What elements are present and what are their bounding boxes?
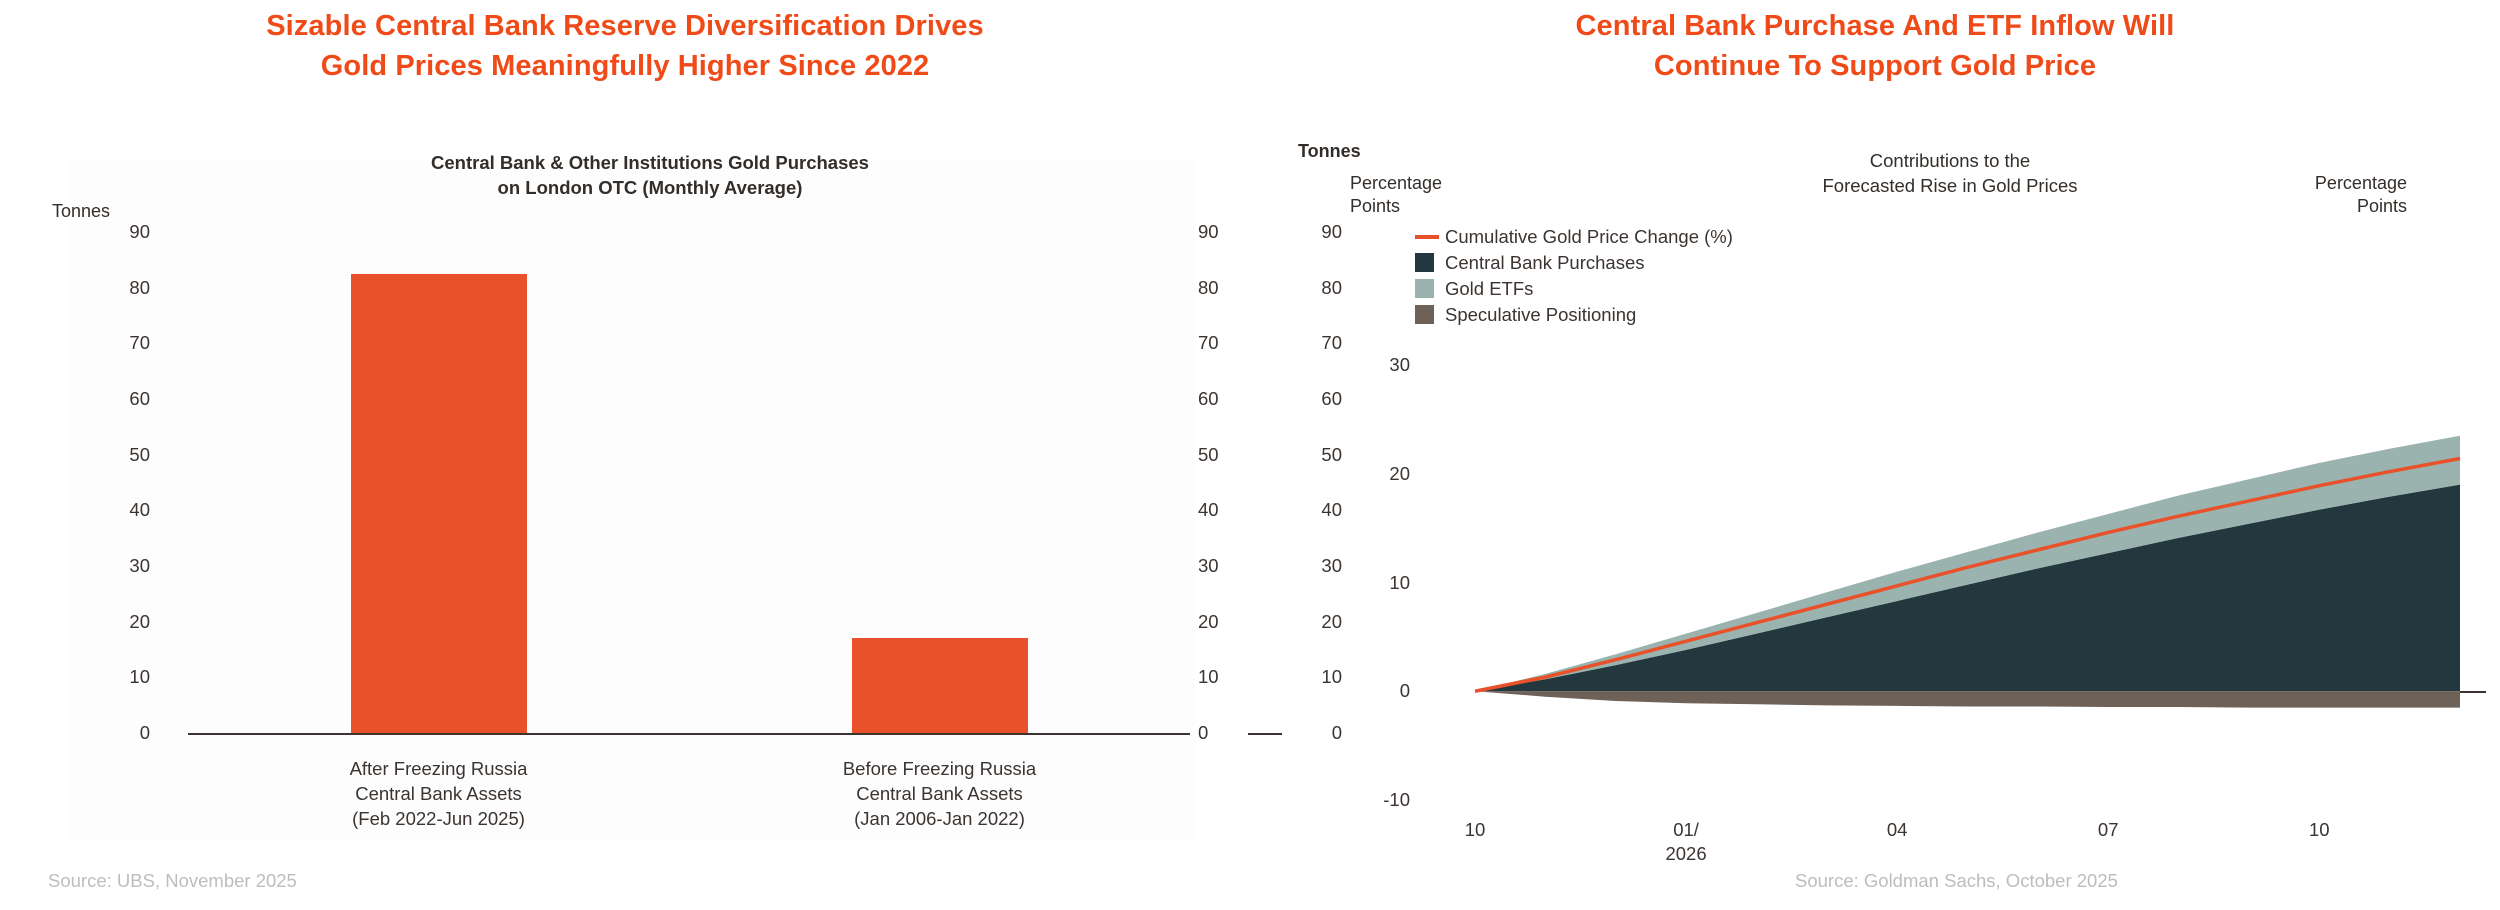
right-x-tick-0: 10 [1405,818,1545,842]
right-plot-area: -10-100010102020303001020304050607080901… [1270,160,2500,840]
left-source-note: Source: UBS, November 2025 [48,870,297,892]
left-y-tick-right-80: 80 [1198,277,1219,299]
right-x-tick-3: 07 [2038,818,2178,842]
left-axis-baseline [188,733,1190,735]
left-chart-card: Central Bank & Other Institutions Gold P… [70,160,1195,840]
dual-chart-board: Sizable Central Bank Reserve Diversifica… [0,0,2500,910]
left-y-tick-right-20: 20 [1198,611,1219,633]
right-zero-tick [2460,691,2486,693]
left-y-tick-right-90: 90 [1198,221,1219,243]
left-y-tick-60: 60 [70,388,150,410]
left-category-label-0: After Freezing Russia Central Bank Asset… [249,756,629,831]
area-speculative-positioning [1475,691,2460,707]
left-y-tick-right-0: 0 [1198,722,1208,744]
left-panel-title: Sizable Central Bank Reserve Diversifica… [0,6,1250,86]
right-x-tick-4: 10 [2249,818,2389,842]
left-bar-0[interactable] [351,274,527,733]
left-y-tick-20: 20 [70,611,150,633]
left-y-tick-right-40: 40 [1198,499,1219,521]
left-y-tick-10: 10 [70,666,150,688]
left-y-tick-70: 70 [70,332,150,354]
left-plot-area: 01020304050607080900102030405060708090Af… [70,160,1195,840]
right-title-line1: Central Bank Purchase And ETF Inflow Wil… [1250,6,2500,46]
left-y-tick-80: 80 [70,277,150,299]
left-y-tick-right-70: 70 [1198,332,1219,354]
left-category-label-1: Before Freezing Russia Central Bank Asse… [750,756,1130,831]
right-x-tick-2: 04 [1827,818,1967,842]
right-chart-panel: Central Bank Purchase And ETF Inflow Wil… [1250,0,2500,910]
left-y-tick-right-50: 50 [1198,444,1219,466]
left-y-tick-right-30: 30 [1198,555,1219,577]
right-source-note: Source: Goldman Sachs, October 2025 [1795,870,2118,892]
left-y-tick-30: 30 [70,555,150,577]
left-y-tick-0: 0 [70,722,150,744]
left-y-tick-40: 40 [70,499,150,521]
left-title-line2: Gold Prices Meaningfully Higher Since 20… [0,46,1250,86]
left-y-tick-right-60: 60 [1198,388,1219,410]
left-title-line1: Sizable Central Bank Reserve Diversifica… [0,6,1250,46]
left-y-tick-50: 50 [70,444,150,466]
left-bar-1[interactable] [852,638,1028,733]
left-chart-panel: Sizable Central Bank Reserve Diversifica… [0,0,1250,910]
right-panel-title: Central Bank Purchase And ETF Inflow Wil… [1250,6,2500,86]
right-area-svg [1270,160,2500,840]
left-y-tick-90: 90 [70,221,150,243]
right-title-line2: Continue To Support Gold Price [1250,46,2500,86]
left-y-tick-right-10: 10 [1198,666,1219,688]
right-x-tick-1: 01/ 2026 [1616,818,1756,866]
right-chart-card: Contributions to the Forecasted Rise in … [1270,160,2395,840]
